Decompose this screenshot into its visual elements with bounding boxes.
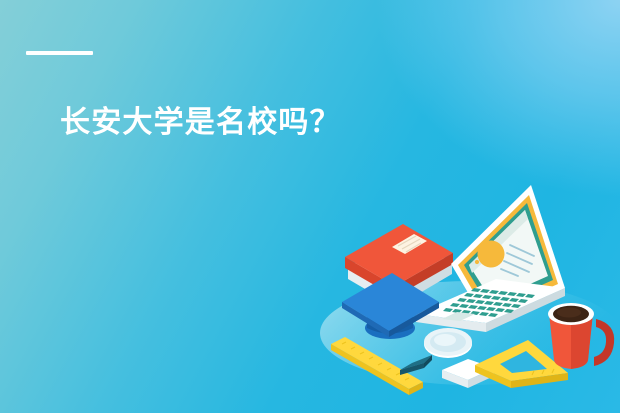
page-title: 长安大学是名校吗？ bbox=[60, 104, 341, 142]
page-banner: 长安大学是名校吗？ bbox=[0, 0, 620, 413]
accent-rule bbox=[26, 51, 93, 55]
study-desk-illustration bbox=[320, 183, 620, 413]
